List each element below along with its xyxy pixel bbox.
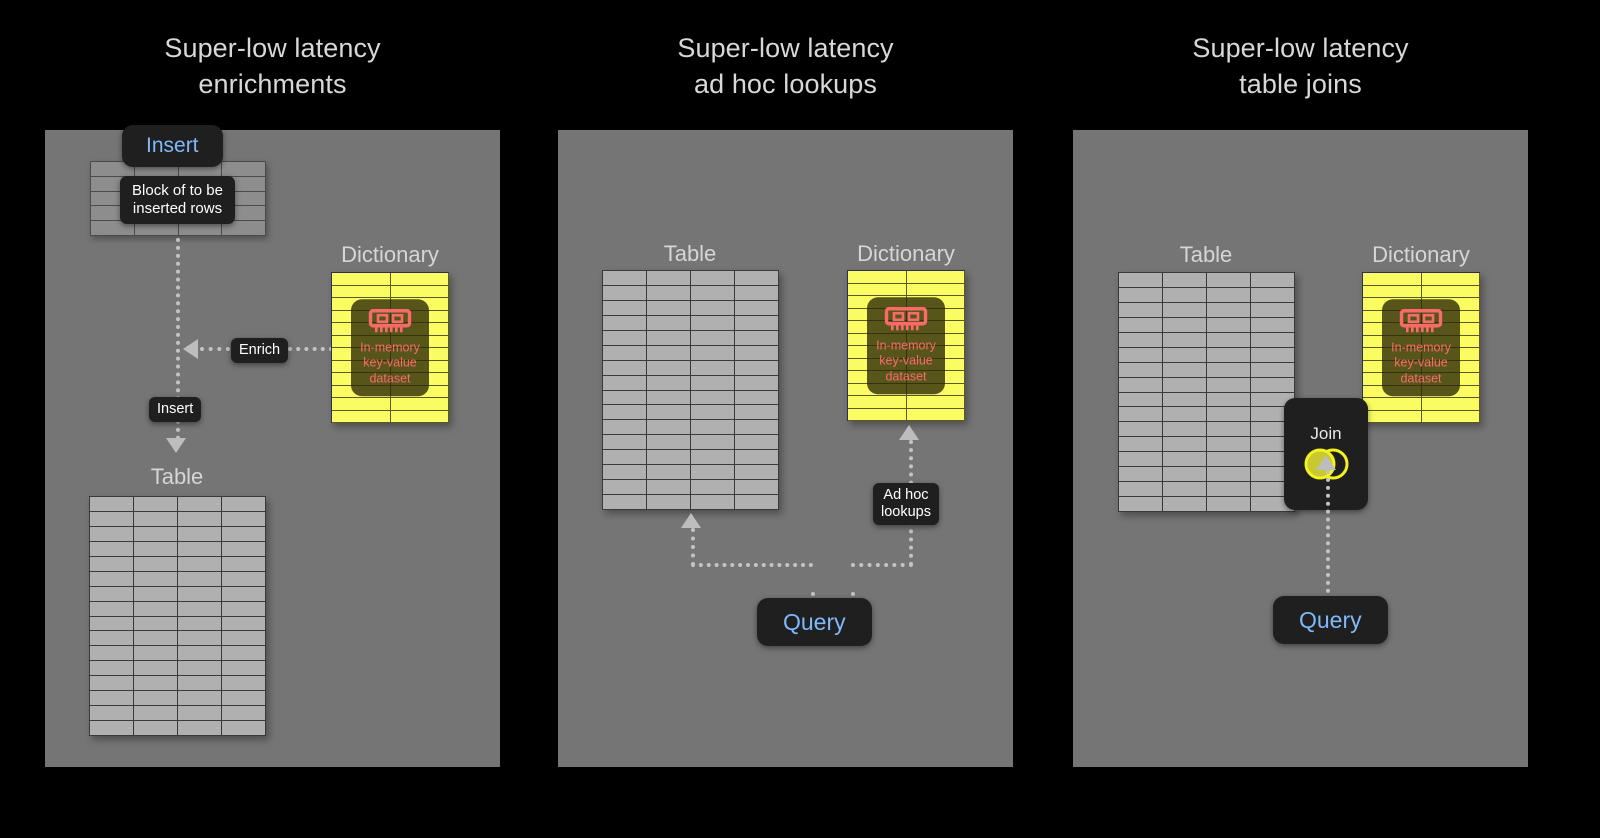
grid-cell xyxy=(647,376,691,391)
connector-enrich-arrowhead xyxy=(183,339,198,359)
grid-cell xyxy=(647,391,691,406)
caption-table-p2: Table xyxy=(664,241,717,267)
grid-cell xyxy=(178,661,222,676)
grid-cell xyxy=(222,646,266,661)
memory-chip-icon xyxy=(884,306,928,333)
grid-cell xyxy=(222,162,266,177)
in-memory-dataset-badge-p1: In-memory key-value dataset xyxy=(351,299,429,397)
grid-cell xyxy=(134,542,178,557)
grid-cell xyxy=(691,331,735,346)
panel-heading-enrichments: Super-low latency enrichments xyxy=(45,30,500,102)
grid-cell xyxy=(90,661,134,676)
badge-query-p3[interactable]: Query xyxy=(1273,596,1388,644)
grid-cell xyxy=(735,301,779,316)
grid-cell xyxy=(1163,363,1207,378)
grid-cell xyxy=(647,465,691,480)
grid-cell xyxy=(647,480,691,495)
grid-cell xyxy=(1207,497,1251,512)
grid-cell xyxy=(603,465,647,480)
grid-cell xyxy=(90,512,134,527)
grid-cell xyxy=(90,706,134,721)
grid-cell xyxy=(222,631,266,646)
grid-cell xyxy=(647,316,691,331)
grid-cell xyxy=(1163,467,1207,482)
grid-cell xyxy=(222,706,266,721)
grid-cell xyxy=(1251,273,1295,288)
grid-cell xyxy=(178,631,222,646)
grid-cell xyxy=(178,587,222,602)
grid-cell xyxy=(90,602,134,617)
grid-cell xyxy=(90,691,134,706)
grid-cell xyxy=(603,391,647,406)
grid-cell xyxy=(222,617,266,632)
grid-cell xyxy=(691,435,735,450)
grid-cell xyxy=(178,497,222,512)
grid-cell xyxy=(1119,437,1163,452)
grid-cell xyxy=(691,450,735,465)
grid-cell xyxy=(603,271,647,286)
grid-cell xyxy=(1207,303,1251,318)
grid-cell xyxy=(1207,407,1251,422)
join-label: Join xyxy=(1310,424,1341,443)
grid-cell xyxy=(1207,273,1251,288)
dictionary-p1: In-memory key-value dataset xyxy=(331,272,449,423)
grid-cell xyxy=(1251,303,1295,318)
grid-cell xyxy=(1119,303,1163,318)
caption-table-p1: Table xyxy=(151,464,204,490)
badge-insert-top[interactable]: Insert xyxy=(122,125,223,167)
grid-cell xyxy=(647,361,691,376)
grid-cell xyxy=(1119,288,1163,303)
grid-cell xyxy=(134,512,178,527)
grid-cell xyxy=(134,691,178,706)
grid-cell xyxy=(1163,407,1207,422)
dictionary-p3: In-memory key-value dataset xyxy=(1362,272,1480,423)
grid-cell xyxy=(90,721,134,736)
grid-cell xyxy=(134,706,178,721)
grid-cell xyxy=(222,721,266,736)
in-memory-label-p3: In-memory key-value dataset xyxy=(1387,340,1455,387)
grid-cell xyxy=(1119,422,1163,437)
grid-cell xyxy=(848,284,907,297)
grid-cell xyxy=(178,691,222,706)
grid-cell xyxy=(134,497,178,512)
grid-cell xyxy=(391,398,450,411)
grid-cell xyxy=(647,435,691,450)
grid-cell xyxy=(907,271,966,284)
grid-cell xyxy=(332,273,391,286)
connector-enrich-line-right xyxy=(288,347,333,351)
grid-cell xyxy=(1207,482,1251,497)
grid-cell xyxy=(1363,273,1422,286)
grid-cell xyxy=(907,409,966,422)
grid-cell xyxy=(90,676,134,691)
grid-cell xyxy=(1163,422,1207,437)
grid-cell xyxy=(90,557,134,572)
grid-cell xyxy=(647,450,691,465)
grid-cell xyxy=(90,527,134,542)
diagram-stage: Super-low latency enrichments Insert Blo… xyxy=(0,0,1600,838)
grid-cell xyxy=(647,331,691,346)
grid-cell xyxy=(90,631,134,646)
grid-cell xyxy=(735,361,779,376)
grid-cell xyxy=(603,495,647,510)
grid-cell xyxy=(178,706,222,721)
caption-dictionary-p2: Dictionary xyxy=(857,241,955,267)
grid-cell xyxy=(90,617,134,632)
grid-cell xyxy=(1119,348,1163,363)
grid-cell xyxy=(332,286,391,299)
badge-query-p2[interactable]: Query xyxy=(757,598,872,646)
grid-cell xyxy=(1422,411,1481,424)
grid-cell xyxy=(134,602,178,617)
grid-cell xyxy=(603,331,647,346)
grid-cell xyxy=(178,721,222,736)
panel-heading-table-joins: Super-low latency table joins xyxy=(1073,30,1528,102)
grid-cell xyxy=(1163,318,1207,333)
grid-cell xyxy=(603,480,647,495)
grid-cell xyxy=(603,405,647,420)
connector-enrich-line-left xyxy=(200,347,230,351)
badge-block-of-rows[interactable]: Block of to be inserted rows xyxy=(120,176,235,224)
grid-cell xyxy=(1251,333,1295,348)
grid-cell xyxy=(691,376,735,391)
grid-cell xyxy=(691,465,735,480)
grid-cell xyxy=(222,691,266,706)
grid-cell xyxy=(735,316,779,331)
grid-cell xyxy=(1251,378,1295,393)
grid-cell xyxy=(1422,273,1481,286)
connector-join-arrowhead xyxy=(1316,455,1336,470)
grid-cell xyxy=(735,405,779,420)
grid-cell xyxy=(735,391,779,406)
in-memory-label-p1: In-memory key-value dataset xyxy=(356,340,424,387)
grid-cell xyxy=(735,331,779,346)
grid-cell xyxy=(691,316,735,331)
grid-cell xyxy=(222,527,266,542)
grid-cell xyxy=(691,286,735,301)
grid-cell xyxy=(647,286,691,301)
badge-enrich[interactable]: Enrich xyxy=(231,338,288,363)
grid-cell xyxy=(222,676,266,691)
grid-cell xyxy=(1207,363,1251,378)
grid-cell xyxy=(1207,422,1251,437)
grid-cell xyxy=(1207,437,1251,452)
grid-cell xyxy=(735,286,779,301)
connector-join-line xyxy=(1326,470,1330,593)
grid-cell xyxy=(178,512,222,527)
grid-cell xyxy=(134,587,178,602)
grid-cell xyxy=(691,301,735,316)
grid-cell xyxy=(1163,288,1207,303)
grid-cell xyxy=(1163,393,1207,408)
grid-cell xyxy=(1163,333,1207,348)
grid-cell xyxy=(90,587,134,602)
grid-cell xyxy=(691,361,735,376)
grid-cell xyxy=(1163,348,1207,363)
grid-cell xyxy=(907,396,966,409)
grid-cell xyxy=(1363,398,1422,411)
grid-cell xyxy=(134,557,178,572)
grid-cell xyxy=(1119,467,1163,482)
grid-cell xyxy=(178,602,222,617)
grid-cell xyxy=(1251,318,1295,333)
grid-cell xyxy=(178,617,222,632)
grid-cell xyxy=(907,284,966,297)
grid-cell xyxy=(332,398,391,411)
grid-cell xyxy=(1207,393,1251,408)
connector-to-table-arrowhead xyxy=(681,513,701,528)
grid-cell xyxy=(134,631,178,646)
grid-cell xyxy=(1163,303,1207,318)
grid-cell xyxy=(222,587,266,602)
table-grid-p1 xyxy=(89,496,266,736)
grid-cell xyxy=(90,572,134,587)
in-memory-label-p2: In-memory key-value dataset xyxy=(872,338,940,385)
grid-cell xyxy=(1119,318,1163,333)
memory-chip-icon xyxy=(1399,308,1443,335)
grid-cell xyxy=(603,346,647,361)
grid-cell xyxy=(1119,273,1163,288)
grid-cell xyxy=(691,420,735,435)
table-grid-p3 xyxy=(1118,272,1295,512)
grid-cell xyxy=(222,572,266,587)
grid-cell xyxy=(603,301,647,316)
grid-cell xyxy=(1163,482,1207,497)
grid-cell xyxy=(848,396,907,409)
grid-cell xyxy=(222,512,266,527)
grid-cell xyxy=(332,411,391,424)
grid-cell xyxy=(391,286,450,299)
grid-cell xyxy=(1207,333,1251,348)
grid-cell xyxy=(603,361,647,376)
grid-cell xyxy=(647,271,691,286)
grid-cell xyxy=(222,497,266,512)
grid-cell xyxy=(1119,497,1163,512)
caption-dictionary-p3: Dictionary xyxy=(1372,242,1470,268)
grid-cell xyxy=(1207,378,1251,393)
table-grid-p2 xyxy=(602,270,779,510)
grid-cell xyxy=(90,497,134,512)
grid-cell xyxy=(178,646,222,661)
grid-cell xyxy=(222,542,266,557)
grid-cell xyxy=(1207,452,1251,467)
grid-cell xyxy=(1422,286,1481,299)
grid-cell xyxy=(647,405,691,420)
connector-to-dictionary-arrowhead xyxy=(899,425,919,440)
grid-cell xyxy=(1207,467,1251,482)
in-memory-dataset-badge-p3: In-memory key-value dataset xyxy=(1382,299,1460,397)
grid-cell xyxy=(178,557,222,572)
grid-cell xyxy=(1207,318,1251,333)
panel-heading-ad-hoc-lookups: Super-low latency ad hoc lookups xyxy=(558,30,1013,102)
grid-cell xyxy=(691,495,735,510)
grid-cell xyxy=(1119,452,1163,467)
grid-cell xyxy=(647,301,691,316)
grid-cell xyxy=(1163,497,1207,512)
grid-cell xyxy=(603,286,647,301)
grid-cell xyxy=(735,480,779,495)
grid-cell xyxy=(178,572,222,587)
badge-ad-hoc-lookups[interactable]: Ad hoc lookups xyxy=(873,483,939,525)
grid-cell xyxy=(603,450,647,465)
grid-cell xyxy=(178,527,222,542)
badge-insert-mid[interactable]: Insert xyxy=(149,397,201,422)
grid-cell xyxy=(134,661,178,676)
grid-cell xyxy=(1251,288,1295,303)
grid-cell xyxy=(222,557,266,572)
grid-cell xyxy=(848,409,907,422)
grid-cell xyxy=(691,271,735,286)
grid-cell xyxy=(691,391,735,406)
grid-cell xyxy=(647,420,691,435)
grid-cell xyxy=(134,646,178,661)
grid-cell xyxy=(1251,363,1295,378)
grid-cell xyxy=(1163,437,1207,452)
grid-cell xyxy=(691,346,735,361)
grid-cell xyxy=(1163,273,1207,288)
grid-cell xyxy=(1363,411,1422,424)
grid-cell xyxy=(222,602,266,617)
grid-cell xyxy=(1251,348,1295,363)
grid-cell xyxy=(178,542,222,557)
grid-cell xyxy=(391,273,450,286)
connector-insert-arrowhead xyxy=(166,438,186,453)
grid-cell xyxy=(735,346,779,361)
grid-cell xyxy=(735,420,779,435)
grid-cell xyxy=(391,411,450,424)
connector-to-table-horizontal xyxy=(691,563,813,567)
grid-cell xyxy=(1207,288,1251,303)
grid-cell xyxy=(735,271,779,286)
grid-cell xyxy=(1119,407,1163,422)
grid-cell xyxy=(134,721,178,736)
memory-chip-icon xyxy=(368,308,412,335)
grid-cell xyxy=(1119,482,1163,497)
grid-cell xyxy=(134,527,178,542)
grid-cell xyxy=(1363,286,1422,299)
grid-cell xyxy=(1119,378,1163,393)
grid-cell xyxy=(90,542,134,557)
grid-cell xyxy=(735,450,779,465)
grid-cell xyxy=(603,435,647,450)
grid-cell xyxy=(1119,363,1163,378)
grid-cell xyxy=(1119,393,1163,408)
grid-cell xyxy=(90,646,134,661)
grid-cell xyxy=(134,676,178,691)
grid-cell xyxy=(735,465,779,480)
grid-cell xyxy=(647,495,691,510)
grid-cell xyxy=(178,676,222,691)
grid-cell xyxy=(735,435,779,450)
grid-cell xyxy=(848,271,907,284)
grid-cell xyxy=(134,617,178,632)
caption-dictionary-p1: Dictionary xyxy=(341,242,439,268)
grid-cell xyxy=(603,420,647,435)
grid-cell xyxy=(691,480,735,495)
grid-cell xyxy=(1207,348,1251,363)
grid-cell xyxy=(1163,452,1207,467)
grid-cell xyxy=(1163,378,1207,393)
dictionary-p2: In-memory key-value dataset xyxy=(847,270,965,421)
grid-cell xyxy=(1119,333,1163,348)
in-memory-dataset-badge-p2: In-memory key-value dataset xyxy=(867,297,945,395)
grid-cell xyxy=(735,376,779,391)
grid-cell xyxy=(1422,398,1481,411)
connector-to-table-riser xyxy=(691,528,695,566)
grid-cell xyxy=(691,405,735,420)
grid-cell xyxy=(222,661,266,676)
grid-cell xyxy=(134,572,178,587)
grid-cell xyxy=(603,376,647,391)
grid-cell xyxy=(647,346,691,361)
connector-to-dictionary-horizontal xyxy=(851,563,913,567)
grid-cell xyxy=(603,316,647,331)
grid-cell xyxy=(735,495,779,510)
caption-table-p3: Table xyxy=(1180,242,1233,268)
